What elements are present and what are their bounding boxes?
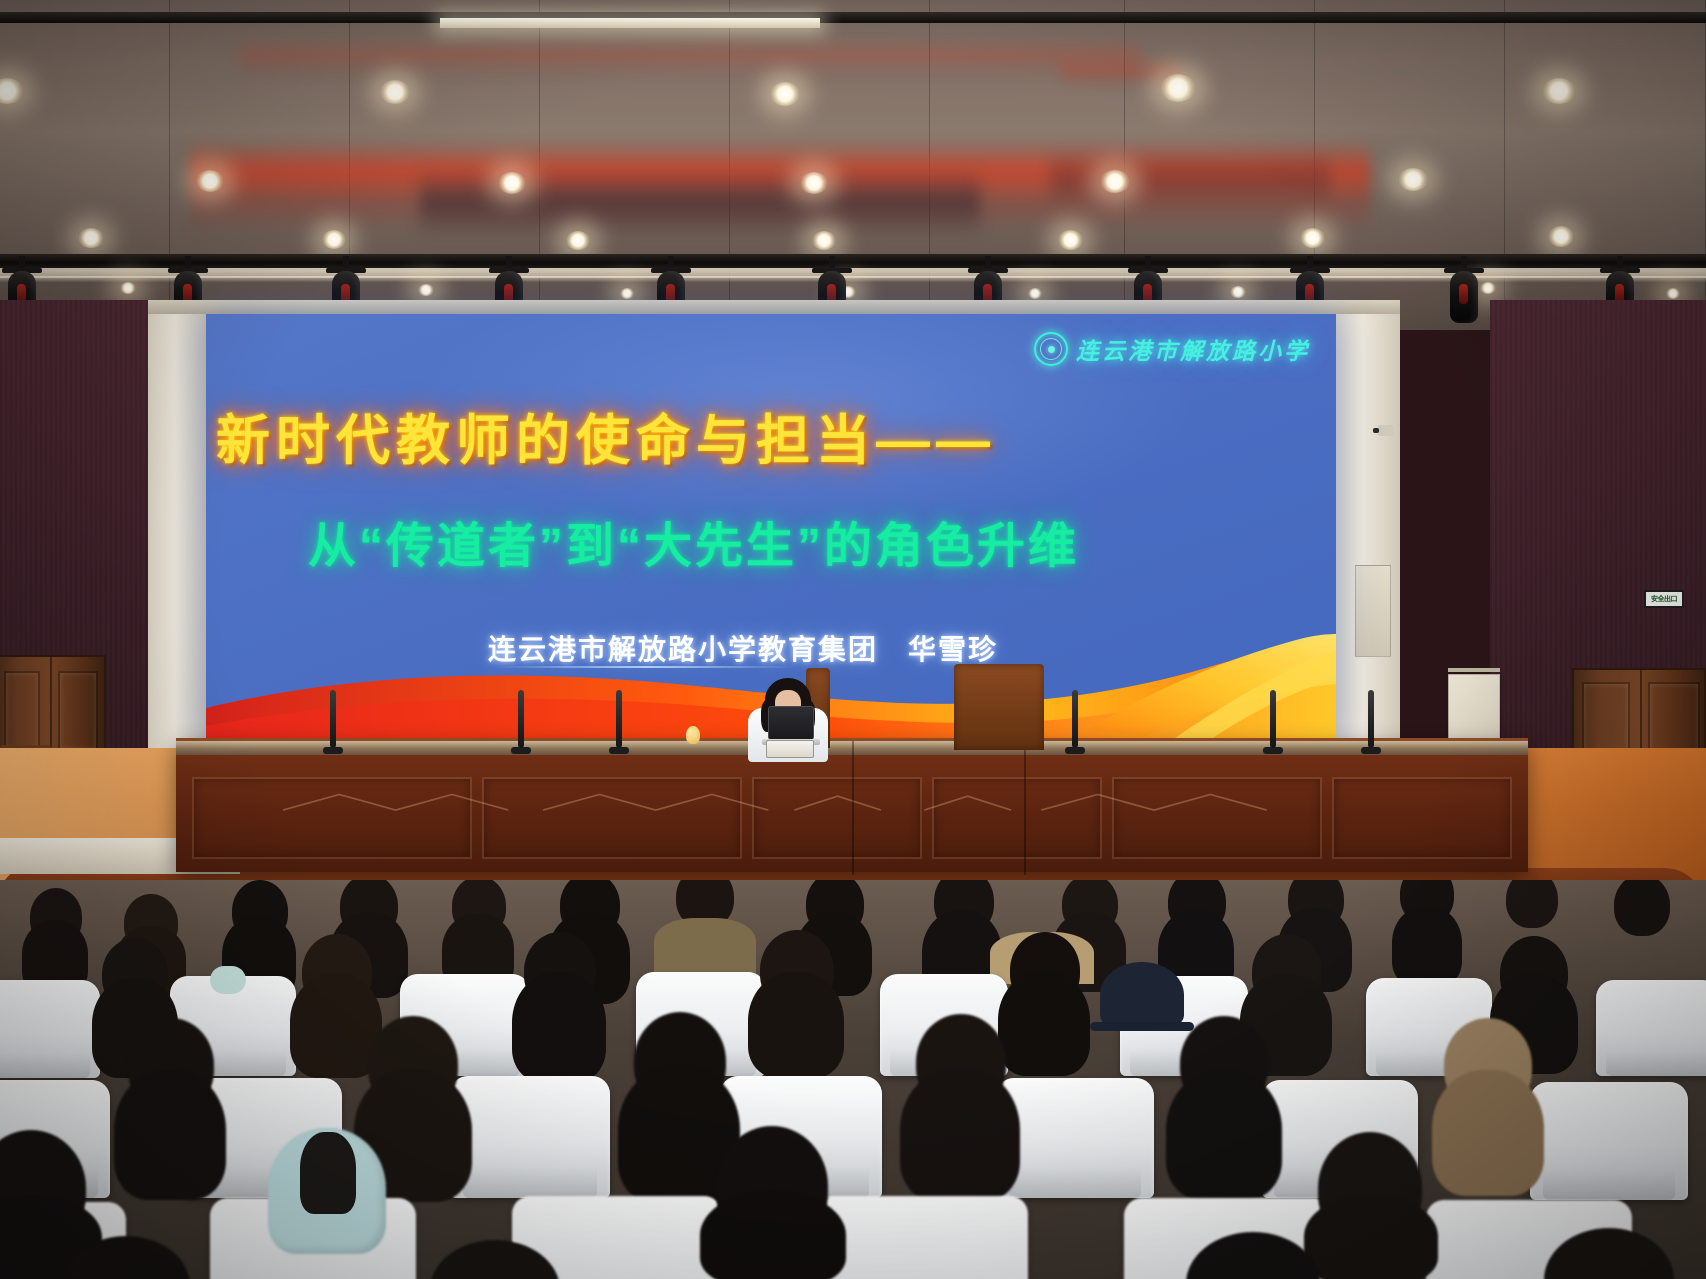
stage-chair (954, 664, 1044, 750)
audience-area (0, 880, 1706, 1279)
downlight-icon (1548, 226, 1574, 247)
downlight-icon (566, 231, 590, 250)
downlight-icon (1160, 74, 1196, 102)
school-name-text: 连云港市解放路小学 (1076, 332, 1310, 366)
covered-auditorium-seat[interactable] (450, 1076, 610, 1198)
security-camera-icon (1378, 425, 1394, 436)
exit-sign: 安全出口 (1644, 590, 1684, 608)
spotlight-icon (1444, 256, 1484, 326)
covered-auditorium-seat[interactable] (816, 1196, 1028, 1279)
downlight-icon (770, 82, 800, 106)
microphone-icon (1270, 690, 1276, 748)
covered-auditorium-seat[interactable] (0, 980, 100, 1078)
presenter-laptop[interactable] (768, 706, 814, 740)
downlight-icon (78, 228, 104, 248)
head-table (176, 738, 1528, 872)
downlight-icon (1100, 170, 1130, 193)
downlight-icon (1398, 168, 1428, 191)
podium-chevron-pattern (257, 791, 1297, 817)
downlight-icon (322, 230, 346, 249)
microphone-icon (518, 690, 524, 748)
downlight-icon (196, 170, 224, 192)
microphone-icon (1368, 690, 1374, 748)
covered-auditorium-seat[interactable] (1530, 1082, 1688, 1200)
seated-attendee (1614, 880, 1670, 936)
microphone-icon (330, 690, 336, 748)
hair-clip-icon (210, 966, 246, 994)
downlight-icon (1542, 78, 1576, 104)
wall-access-panel-icon (1448, 674, 1500, 746)
downlight-icon (498, 172, 526, 194)
downlight-icon (1300, 228, 1325, 248)
school-seal-icon (1034, 332, 1068, 366)
downlight-icon (380, 80, 410, 104)
microphone-icon (616, 690, 622, 748)
seated-attendee-with-cap (1100, 962, 1184, 1028)
school-logo: 连云港市解放路小学 (1034, 332, 1310, 366)
microphone-icon (1072, 690, 1078, 748)
table-flower (686, 726, 700, 744)
covered-auditorium-seat[interactable] (1596, 980, 1706, 1076)
downlight-icon (1058, 230, 1083, 250)
auditorium-photo: 安全出口 连云港市解放路小学 新时代教师的使命与担当—— 从“传道者”到“大先生… (0, 0, 1706, 1279)
slide-title-line2: 从“传道者”到“大先生”的角色升维 (308, 506, 1079, 576)
name-card (766, 740, 814, 758)
slide-title-line1: 新时代教师的使命与担当—— (216, 396, 996, 475)
downlight-icon (812, 231, 836, 250)
wall-vent-icon (1355, 565, 1391, 657)
hood-inner (300, 1132, 356, 1214)
exit-sign-label: 安全出口 (1651, 596, 1677, 603)
downlight-icon (800, 172, 828, 194)
seated-attendee (1506, 880, 1558, 928)
screen-top-trim (148, 300, 1400, 314)
